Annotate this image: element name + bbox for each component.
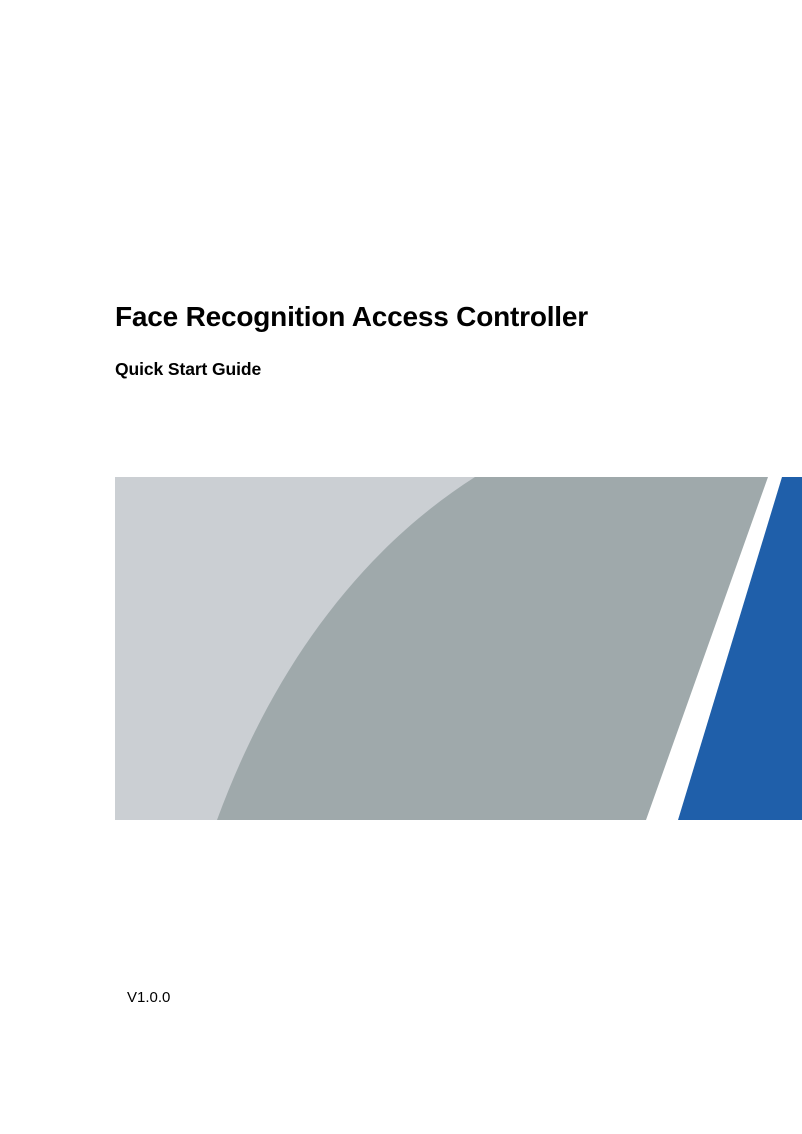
document-version: V1.0.0 [127,988,170,1008]
cover-page: Face Recognition Access Controller Quick… [0,0,802,1134]
title-block: Face Recognition Access Controller Quick… [115,300,735,380]
page-subtitle: Quick Start Guide [115,334,735,380]
cover-banner [115,477,802,820]
page-title: Face Recognition Access Controller [115,300,735,334]
cover-banner-graphic [115,477,802,820]
